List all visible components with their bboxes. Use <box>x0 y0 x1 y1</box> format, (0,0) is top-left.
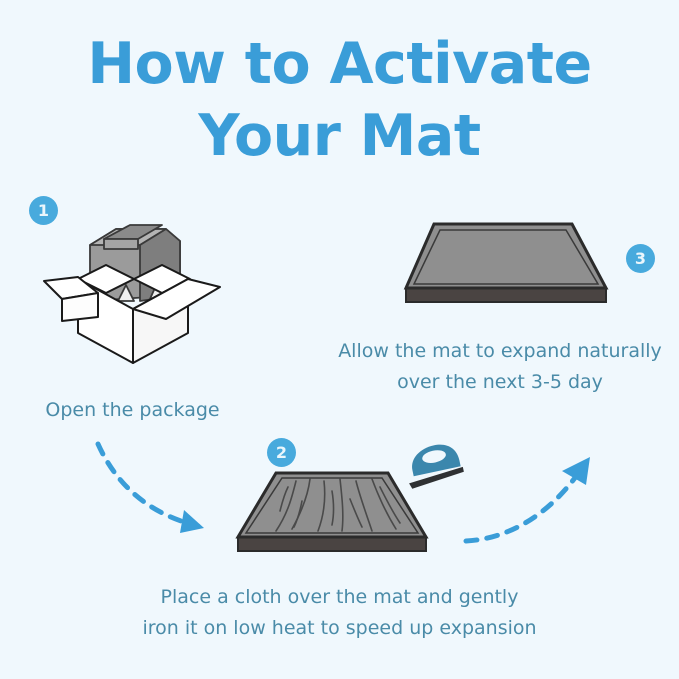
title-line-2: Your Mat <box>0 100 679 172</box>
step-3-caption: Allow the mat to expand naturally over t… <box>320 336 679 398</box>
dashed-arrow-right-icon <box>462 447 607 557</box>
step-2-caption-line-2: iron it on low heat to speed up expansio… <box>112 613 567 644</box>
step-badge-3: 3 <box>626 244 655 273</box>
step-3-caption-line-1: Allow the mat to expand naturally <box>320 336 679 367</box>
step-2-caption: Place a cloth over the mat and gently ir… <box>112 582 567 644</box>
step-2-caption-line-1: Place a cloth over the mat and gently <box>112 582 567 613</box>
dashed-arrow-left-icon <box>92 436 227 546</box>
step-1-caption-text: Open the package <box>45 399 219 421</box>
step-badge-2: 2 <box>267 438 296 467</box>
page-title: How to Activate Your Mat <box>0 28 679 172</box>
open-box-illustration <box>38 215 228 380</box>
step-1-caption: Open the package <box>0 395 265 426</box>
step-3-caption-line-2: over the next 3-5 day <box>320 367 679 398</box>
iron-icon <box>398 440 468 497</box>
title-line-1: How to Activate <box>0 28 679 100</box>
infographic-canvas: How to Activate Your Mat 1 <box>0 0 679 679</box>
flat-mat-illustration <box>398 218 613 318</box>
